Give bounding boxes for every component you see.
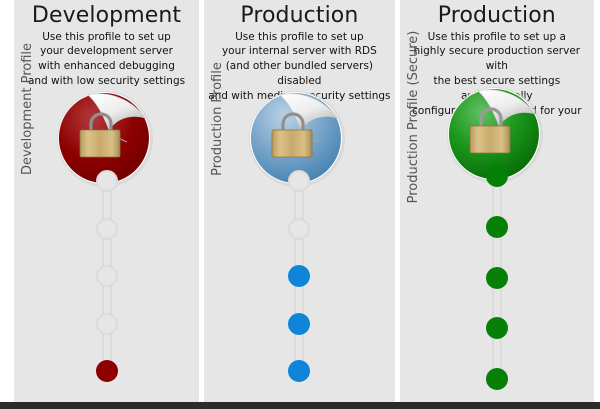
meter-connector <box>294 332 304 364</box>
meter-node-filled <box>486 368 508 390</box>
panel-description: Use this profile to set up your developm… <box>14 30 199 90</box>
meter-connector <box>102 332 112 364</box>
meter-node <box>288 170 310 192</box>
profiles-comparison-graphic: Development Use this profile to set up y… <box>0 0 600 409</box>
meter-connector <box>102 237 112 269</box>
panel-title: Production <box>204 3 395 29</box>
meter-node-filled <box>96 360 118 382</box>
meter-node-filled <box>486 216 508 238</box>
bottom-bar <box>0 402 600 409</box>
panel-title: Production <box>400 3 594 29</box>
profile-panels: Development Use this profile to set up y… <box>0 0 600 402</box>
meter-node-filled <box>486 165 508 187</box>
meter-node-filled <box>288 313 310 335</box>
panel-title: Development <box>14 3 199 29</box>
security-level-meter <box>480 165 514 390</box>
meter-connector <box>492 286 502 321</box>
meter-node <box>96 170 118 192</box>
meter-connector <box>102 284 112 316</box>
profile-panel-production[interactable]: Production Use this profile to set up yo… <box>204 0 395 402</box>
meter-node-filled <box>486 317 508 339</box>
meter-node <box>96 313 118 335</box>
meter-node <box>96 265 118 287</box>
profile-panel-production-secure[interactable]: Production Use this profile to set up a … <box>400 0 594 402</box>
meter-node-filled <box>288 360 310 382</box>
profile-panel-development[interactable]: Development Use this profile to set up y… <box>14 0 199 402</box>
meter-connector <box>492 336 502 371</box>
meter-connector <box>492 184 502 219</box>
meter-node <box>288 218 310 240</box>
meter-connector <box>492 235 502 270</box>
security-level-meter <box>282 170 316 382</box>
meter-connector <box>294 237 304 269</box>
meter-node-filled <box>288 265 310 287</box>
meter-node <box>96 218 118 240</box>
meter-connector <box>294 189 304 221</box>
meter-connector <box>294 284 304 316</box>
security-level-meter <box>90 170 124 382</box>
meter-node-filled <box>486 267 508 289</box>
meter-connector <box>102 189 112 221</box>
